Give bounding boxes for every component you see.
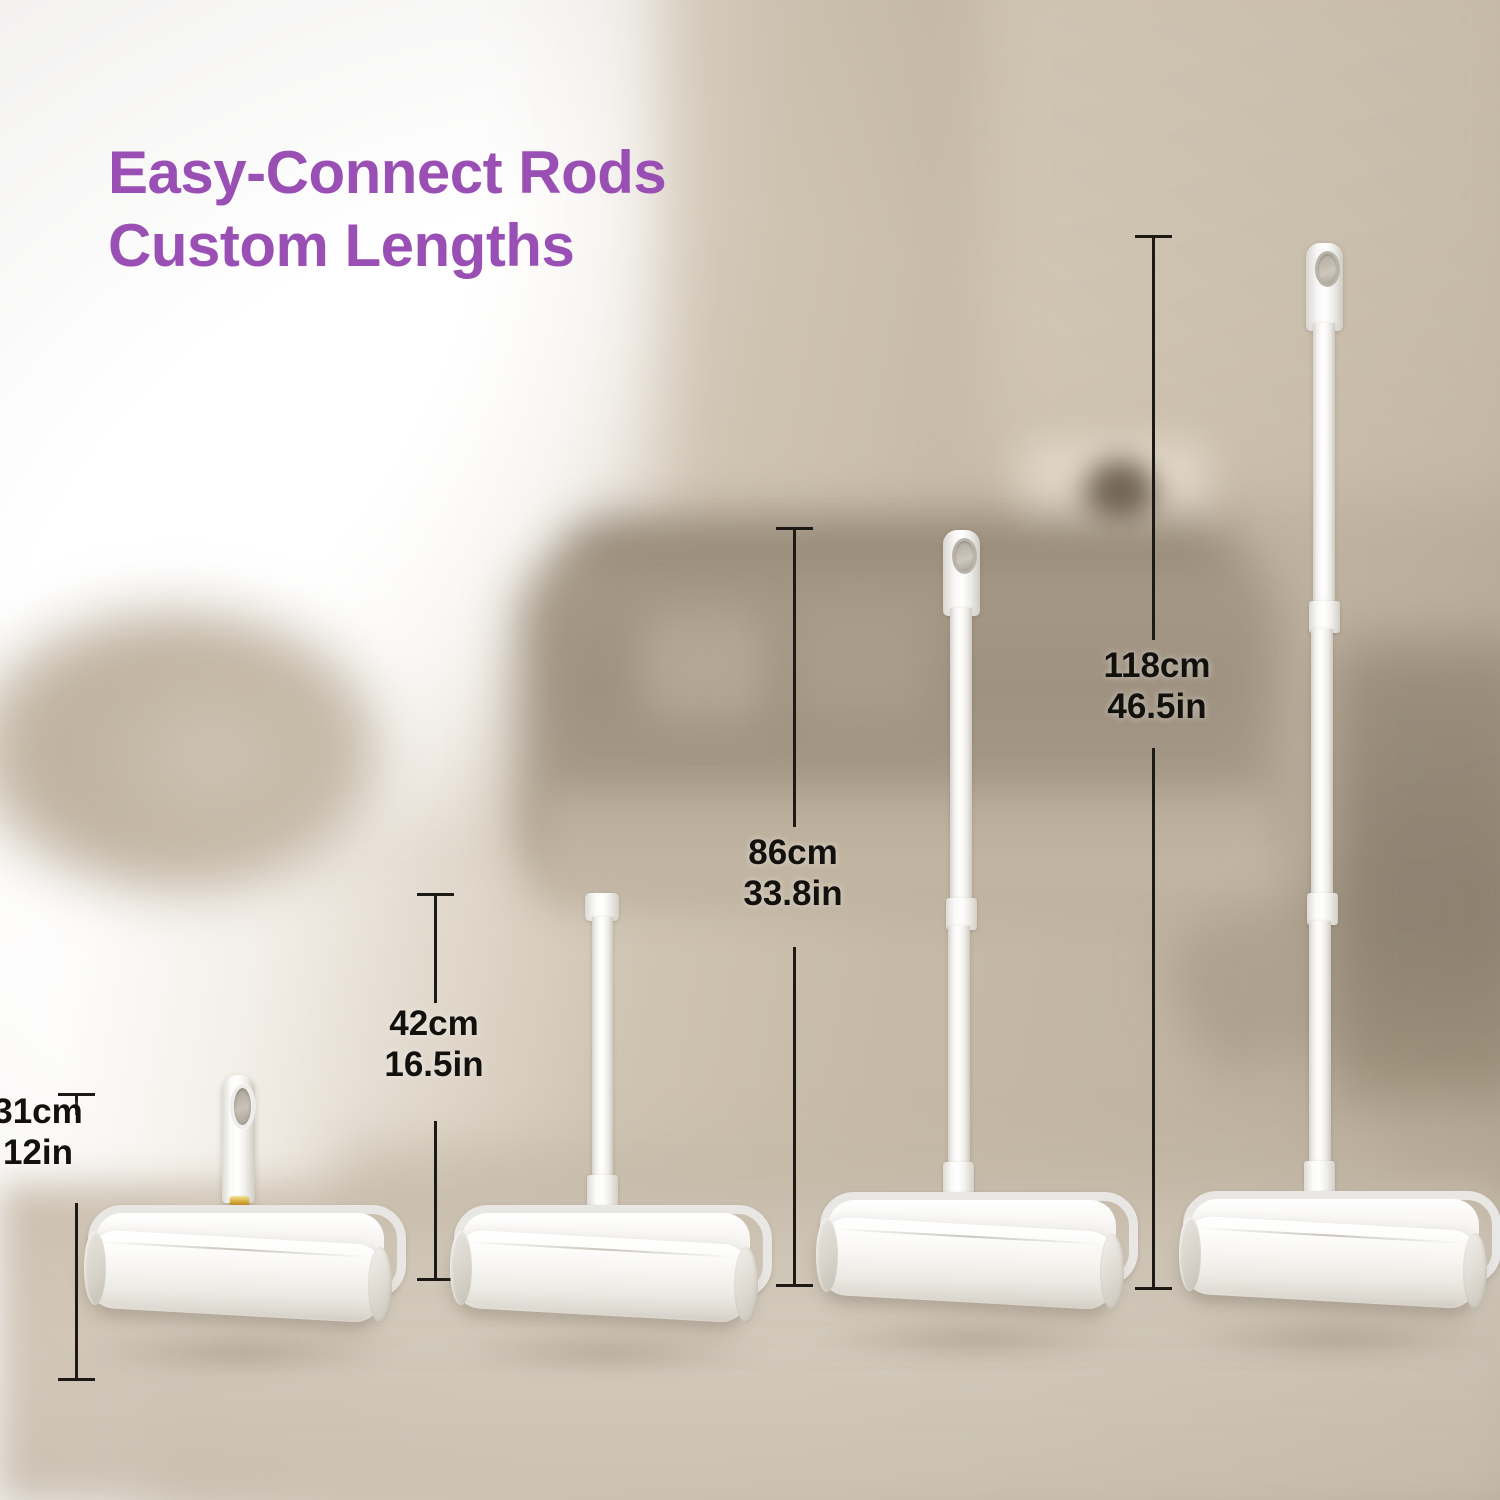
roller-end-cap-right — [368, 1247, 392, 1323]
dimension-cap-bottom — [417, 1278, 454, 1281]
roller-end-cap-right — [1100, 1234, 1124, 1310]
dimension-stroke-lower — [793, 947, 796, 1287]
pole-collar-base — [1304, 1161, 1335, 1195]
dimension-stroke-upper — [1152, 235, 1155, 640]
headline: Easy-Connect Rods Custom Lengths — [108, 136, 928, 282]
dimension-cap-bottom — [58, 1378, 95, 1381]
dimension-value-cm: 42cm — [344, 1003, 524, 1044]
dimension-stroke-upper — [793, 527, 796, 827]
pole-segment-middle — [1311, 629, 1333, 901]
dimension-stroke-lower — [1152, 748, 1155, 1290]
dimension-cap-bottom — [1135, 1287, 1172, 1290]
dimension-stroke-lower — [434, 1121, 437, 1281]
roller-shadow — [1183, 1317, 1493, 1359]
dimension-label-86cm: 86cm 33.8in — [703, 832, 883, 915]
rod-collar-lower — [587, 1175, 618, 1209]
pole-segment-upper — [1313, 323, 1335, 611]
dimension-value-cm: 86cm — [703, 832, 883, 873]
dimension-stroke-upper — [434, 893, 437, 1003]
product-feature-image: Easy-Connect Rods Custom Lengths 31cm 12… — [0, 0, 1500, 1500]
pole-segment-upper — [950, 608, 972, 908]
roller-end-cap-right — [734, 1247, 758, 1323]
dimension-value-cm: 31cm — [0, 1091, 128, 1132]
dimension-value-cm: 118cm — [1062, 645, 1252, 686]
pole-hang-loop — [952, 538, 977, 574]
roller-shadow — [88, 1331, 398, 1373]
pole-segment-lower — [1309, 921, 1331, 1187]
dimension-value-in: 12in — [0, 1132, 128, 1173]
dimension-value-in: 46.5in — [1062, 686, 1252, 727]
dimension-value-in: 16.5in — [344, 1044, 524, 1085]
pole-segment-lower — [948, 926, 970, 1194]
roller-shadow — [820, 1318, 1130, 1360]
roller-end-cap-right — [1463, 1233, 1487, 1309]
dimension-value-in: 33.8in — [703, 873, 883, 914]
headline-line-2: Custom Lengths — [108, 209, 928, 282]
handle-hang-hole — [230, 1084, 255, 1129]
pole-collar-lower — [943, 1162, 974, 1196]
roller-shadow — [454, 1331, 764, 1373]
dimension-label-42cm: 42cm 16.5in — [344, 1003, 524, 1086]
dimension-cap-bottom — [776, 1284, 813, 1287]
dimension-label-118cm: 118cm 46.5in — [1062, 645, 1252, 728]
headline-line-1: Easy-Connect Rods — [108, 136, 928, 209]
dimension-label-31cm: 31cm 12in — [0, 1091, 128, 1174]
pole-hang-loop — [1315, 251, 1340, 287]
dimension-stroke-lower — [75, 1203, 78, 1381]
extension-rod — [592, 917, 613, 1189]
